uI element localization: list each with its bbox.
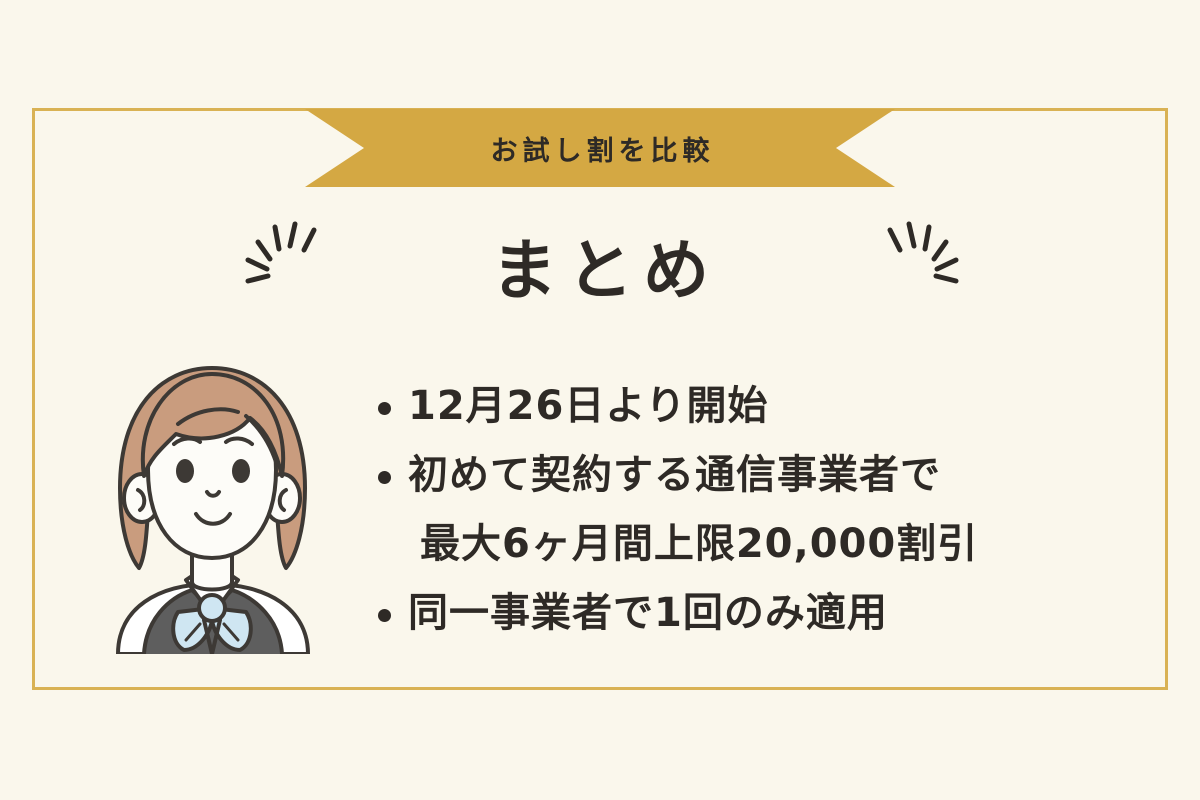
sparkle-burst-left-icon [222,202,332,312]
list-item-line-2: 最大6ヶ月間上限20,000割引 [408,510,1130,579]
list-item-line-1: 12月26日より開始 [408,383,769,429]
list-item-line-1: 初めて契約する通信事業者で [408,452,941,498]
page-title: まとめ [0,238,1200,304]
avatar [100,358,325,654]
ribbon-banner-shape: お試し割を比較 [305,109,895,187]
ribbon-banner-label: お試し割を比較 [486,129,715,168]
sparkle-burst-right-icon [872,202,982,312]
list-item: 初めて契約する通信事業者で 最大6ヶ月間上限20,000割引 [370,441,1130,579]
list-item-line-1: 同一事業者で1回のみ適用 [408,590,888,636]
bullet-list: 12月26日より開始 初めて契約する通信事業者で 最大6ヶ月間上限20,000割… [370,372,1130,648]
list-item: 12月26日より開始 [370,372,1130,441]
ribbon-banner: お試し割を比較 [305,109,895,187]
list-item: 同一事業者で1回のみ適用 [370,579,1130,648]
avatar-body [118,368,308,654]
slide-root: お試し割を比較 まとめ [0,0,1200,800]
